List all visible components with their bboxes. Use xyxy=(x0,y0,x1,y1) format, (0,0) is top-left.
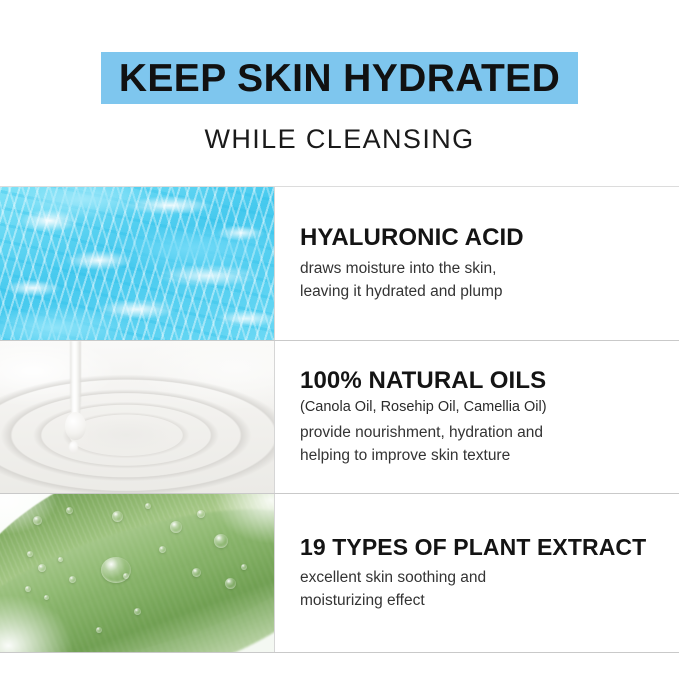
pour-droplet-small-shape xyxy=(69,441,78,453)
dew-drop xyxy=(241,564,247,570)
footer-whitespace xyxy=(0,653,679,679)
row-vertical-divider xyxy=(274,341,275,493)
benefit-copy-block: 100% NATURAL OILS (Canola Oil, Rosehip O… xyxy=(300,341,679,493)
dew-drop xyxy=(170,521,182,533)
benefit-body-text: draws moisture into the skin, leaving it… xyxy=(300,258,679,303)
dew-drop xyxy=(25,586,31,592)
dew-drop xyxy=(192,568,201,577)
title-highlight-bar: KEEP SKIN HYDRATED xyxy=(101,52,578,104)
benefit-body-text: provide nourishment, hydration and helpi… xyxy=(300,422,679,467)
benefit-row-plant-extract: 19 TYPES OF PLANT EXTRACT excellent skin… xyxy=(0,494,679,652)
green-leaf-dew-photo xyxy=(0,494,274,652)
leaf-texture-art xyxy=(0,494,274,652)
benefit-heading: 100% NATURAL OILS xyxy=(300,367,679,395)
dew-drop xyxy=(225,578,236,589)
dew-drop xyxy=(66,507,73,514)
milk-texture-art xyxy=(0,341,274,493)
dew-drop xyxy=(69,576,76,583)
benefit-subheading: (Canola Oil, Rosehip Oil, Camellia Oil) xyxy=(300,398,679,418)
dew-drop xyxy=(96,627,102,633)
benefit-row-natural-oils: 100% NATURAL OILS (Canola Oil, Rosehip O… xyxy=(0,341,679,493)
benefit-body-text: excellent skin soothing and moisturizing… xyxy=(300,567,679,612)
dew-drop xyxy=(159,546,166,553)
row-vertical-divider xyxy=(274,187,275,340)
water-texture-art xyxy=(0,187,274,340)
pour-droplet-shape xyxy=(65,412,86,440)
benefit-heading: 19 TYPES OF PLANT EXTRACT xyxy=(300,534,679,560)
product-benefits-infographic: KEEP SKIN HYDRATED WHILE CLEANSING HYALU… xyxy=(0,0,679,679)
water-ripples-photo xyxy=(0,187,274,340)
benefit-copy-block: 19 TYPES OF PLANT EXTRACT excellent skin… xyxy=(300,494,679,652)
dew-drop xyxy=(38,564,46,572)
benefit-copy-block: HYALURONIC ACID draws moisture into the … xyxy=(300,187,679,340)
benefit-row-hyaluronic-acid: HYALURONIC ACID draws moisture into the … xyxy=(0,187,679,340)
dew-drop xyxy=(214,534,228,548)
dew-drop xyxy=(58,557,63,562)
dew-drop xyxy=(44,595,49,600)
milk-pour-photo xyxy=(0,341,274,493)
dew-drop xyxy=(33,516,42,525)
page-title: KEEP SKIN HYDRATED xyxy=(119,59,560,98)
page-subtitle: WHILE CLEANSING xyxy=(0,124,679,155)
row-vertical-divider xyxy=(274,494,275,652)
dew-drop xyxy=(134,608,141,615)
benefit-heading: HYALURONIC ACID xyxy=(300,224,679,252)
header-section: KEEP SKIN HYDRATED WHILE CLEANSING xyxy=(0,0,679,186)
